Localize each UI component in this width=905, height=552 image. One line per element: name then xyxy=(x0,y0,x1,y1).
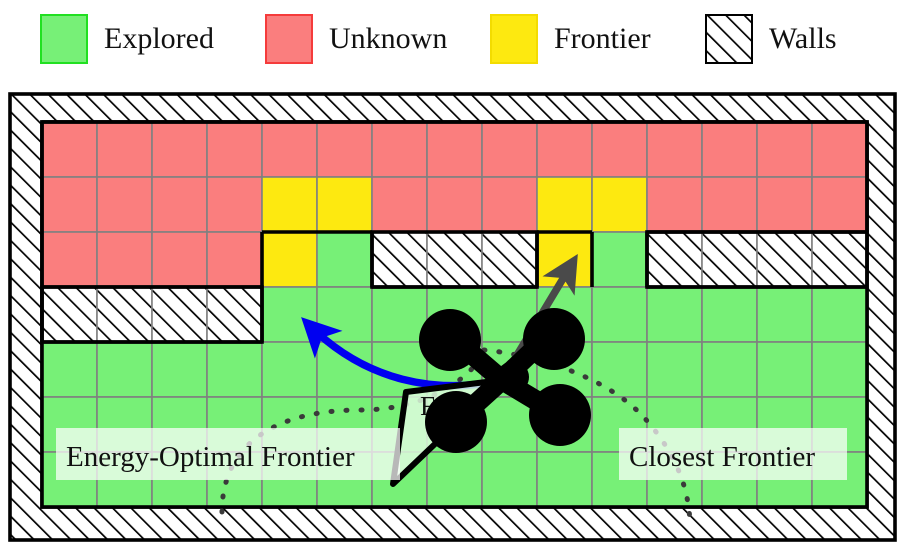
cell-wall-r2-c11 xyxy=(647,232,702,287)
drone-body xyxy=(497,361,529,393)
legend-item-explored: Explored xyxy=(40,14,214,64)
cell-unknown-r1-c1 xyxy=(97,177,152,232)
energy-optimal-frontier-label: Energy-Optimal Frontier xyxy=(66,441,355,473)
cell-wall-r2-c12 xyxy=(702,232,757,287)
drone-rotor-front-right xyxy=(523,308,585,370)
legend-item-unknown: Unknown xyxy=(265,14,447,64)
cell-unknown-r1-c12 xyxy=(702,177,757,232)
cell-wall-r3-c3 xyxy=(207,287,262,342)
cell-explored-r6-c7 xyxy=(427,452,482,507)
energy-optimal-callout: Energy-Optimal Frontier xyxy=(56,428,400,480)
cell-explored-r2-c5 xyxy=(317,232,372,287)
drone-rotor-rear-right xyxy=(529,384,591,446)
cell-explored-r3-c13 xyxy=(757,287,812,342)
legend-item-walls: Walls xyxy=(705,14,837,64)
legend-label-explored: Explored xyxy=(104,24,214,54)
cell-unknown-r0-c14 xyxy=(812,122,867,177)
cell-unknown-r0-c7 xyxy=(427,122,482,177)
cell-unknown-r0-c0 xyxy=(42,122,97,177)
cell-unknown-r0-c4 xyxy=(262,122,317,177)
cell-unknown-r0-c6 xyxy=(372,122,427,177)
unknown-color-swatch xyxy=(265,14,313,64)
cell-frontier-r1-c5 xyxy=(317,177,372,232)
cell-unknown-r0-c12 xyxy=(702,122,757,177)
walls-hatch-icon xyxy=(707,16,751,62)
cell-unknown-r1-c7 xyxy=(427,177,482,232)
cell-explored-r4-c11 xyxy=(647,342,702,397)
cell-unknown-r2-c2 xyxy=(152,232,207,287)
cell-wall-r2-c8 xyxy=(482,232,537,287)
cell-explored-r4-c12 xyxy=(702,342,757,397)
cell-explored-r4-c0 xyxy=(42,342,97,397)
cell-unknown-r0-c9 xyxy=(537,122,592,177)
cell-explored-r4-c14 xyxy=(812,342,867,397)
cell-explored-r6-c9 xyxy=(537,452,592,507)
cell-unknown-r1-c11 xyxy=(647,177,702,232)
cell-explored-r4-c1 xyxy=(97,342,152,397)
cell-wall-r3-c0 xyxy=(42,287,97,342)
cell-explored-r4-c4 xyxy=(262,342,317,397)
cell-unknown-r0-c3 xyxy=(207,122,262,177)
drone-rotor-front-left xyxy=(419,309,481,371)
legend-item-frontier: Frontier xyxy=(490,14,651,64)
cell-unknown-r2-c1 xyxy=(97,232,152,287)
cell-explored-r2-c10 xyxy=(592,232,647,287)
cell-frontier-r1-c10 xyxy=(592,177,647,232)
cell-unknown-r1-c2 xyxy=(152,177,207,232)
cell-frontier-r1-c4 xyxy=(262,177,317,232)
cell-explored-r3-c12 xyxy=(702,287,757,342)
cell-explored-r3-c4 xyxy=(262,287,317,342)
cell-unknown-r1-c6 xyxy=(372,177,427,232)
cell-unknown-r1-c13 xyxy=(757,177,812,232)
cell-unknown-r0-c11 xyxy=(647,122,702,177)
cell-unknown-r1-c0 xyxy=(42,177,97,232)
legend-label-unknown: Unknown xyxy=(329,24,447,54)
cell-unknown-r1-c14 xyxy=(812,177,867,232)
cell-wall-r2-c13 xyxy=(757,232,812,287)
cell-unknown-r0-c10 xyxy=(592,122,647,177)
cell-explored-r3-c6 xyxy=(372,287,427,342)
frontier-color-swatch xyxy=(490,14,538,64)
cell-explored-r3-c5 xyxy=(317,287,372,342)
legend-label-walls: Walls xyxy=(769,24,837,54)
cell-unknown-r0-c2 xyxy=(152,122,207,177)
cell-unknown-r0-c8 xyxy=(482,122,537,177)
cell-explored-r3-c10 xyxy=(592,287,647,342)
cell-unknown-r0-c1 xyxy=(97,122,152,177)
drone-rotor-rear-left xyxy=(425,391,487,453)
closest-frontier-callout: Closest Frontier xyxy=(619,428,847,480)
walls-hatch-swatch xyxy=(705,14,753,64)
cell-frontier-r1-c9 xyxy=(537,177,592,232)
legend-label-frontier: Frontier xyxy=(554,24,651,54)
cell-unknown-r1-c3 xyxy=(207,177,262,232)
legend: Explored Unknown Frontier Walls xyxy=(0,0,905,88)
cell-unknown-r2-c0 xyxy=(42,232,97,287)
cell-wall-r2-c7 xyxy=(427,232,482,287)
cell-wall-r3-c1 xyxy=(97,287,152,342)
closest-frontier-label: Closest Frontier xyxy=(629,441,815,473)
cell-explored-r4-c13 xyxy=(757,342,812,397)
cell-unknown-r2-c3 xyxy=(207,232,262,287)
cell-wall-r2-c6 xyxy=(372,232,427,287)
cell-explored-r4-c2 xyxy=(152,342,207,397)
cell-unknown-r0-c5 xyxy=(317,122,372,177)
cell-wall-r3-c2 xyxy=(152,287,207,342)
cell-unknown-r0-c13 xyxy=(757,122,812,177)
cell-explored-r3-c14 xyxy=(812,287,867,342)
map-canvas: FoV Energy-Optimal Frontier Closest Fron… xyxy=(8,92,897,542)
explored-color-swatch xyxy=(40,14,88,64)
cell-explored-r6-c8 xyxy=(482,452,537,507)
cell-unknown-r1-c8 xyxy=(482,177,537,232)
cell-explored-r4-c10 xyxy=(592,342,647,397)
cell-frontier-r2-c4 xyxy=(262,232,317,287)
occupancy-grid-map: FoV Energy-Optimal Frontier Closest Fron… xyxy=(8,92,897,542)
cell-explored-r3-c11 xyxy=(647,287,702,342)
cell-explored-r4-c3 xyxy=(207,342,262,397)
cell-wall-r2-c14 xyxy=(812,232,867,287)
